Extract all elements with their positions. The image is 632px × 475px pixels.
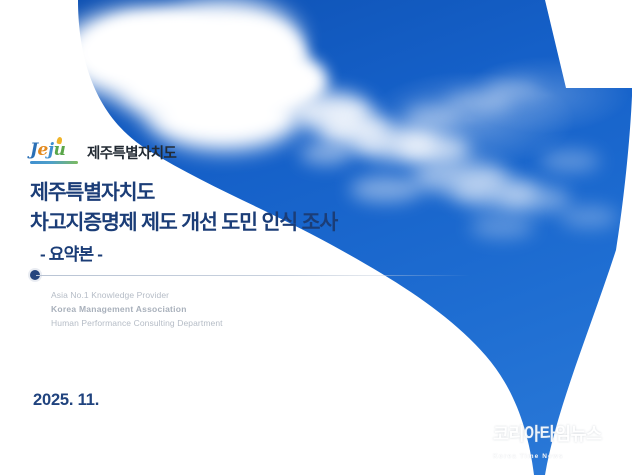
brand-row: Jeju 제주특별자치도 [30,140,176,164]
presentation-cover-slide: Jeju 제주특별자치도 제주특별자치도 차고지증명제 제도 개선 도민 인식 … [0,0,632,475]
publication-date: 2025. 11. [33,391,99,410]
watermark: 코리아타임뉴스 Korea Time News [452,424,632,463]
brand-name: 제주특별자치도 [87,142,176,163]
watermark-subtitle: Korea Time News [493,453,564,460]
watermark-title: 코리아타임뉴스 [493,424,602,444]
watermark-text: 코리아타임뉴스 Korea Time News [493,424,632,463]
divider [36,275,470,276]
page-title: 제주특별자치도 차고지증명제 제도 개선 도민 인식 조사 [30,178,460,237]
slide-content: Jeju 제주특별자치도 제주특별자치도 차고지증명제 제도 개선 도민 인식 … [0,0,632,475]
organization-block: Asia No.1 Knowledge Provider Korea Manag… [51,289,223,330]
watermark-k-logo-icon [452,425,486,463]
title-line-1: 제주특별자치도 [30,181,154,204]
organization-tagline: Asia No.1 Knowledge Provider [51,289,223,303]
jeju-logo-underline-icon [30,161,78,164]
title-line-2: 차고지증명제 제도 개선 도민 인식 조사 [30,208,460,238]
organization-department: Human Performance Consulting Department [51,317,223,331]
organization-name: Korea Management Association [51,303,223,317]
jeju-logo-wordmark: Jeju [30,142,65,159]
jeju-logo-icon: Jeju [30,140,78,164]
page-subtitle: - 요약본 - [40,240,102,265]
